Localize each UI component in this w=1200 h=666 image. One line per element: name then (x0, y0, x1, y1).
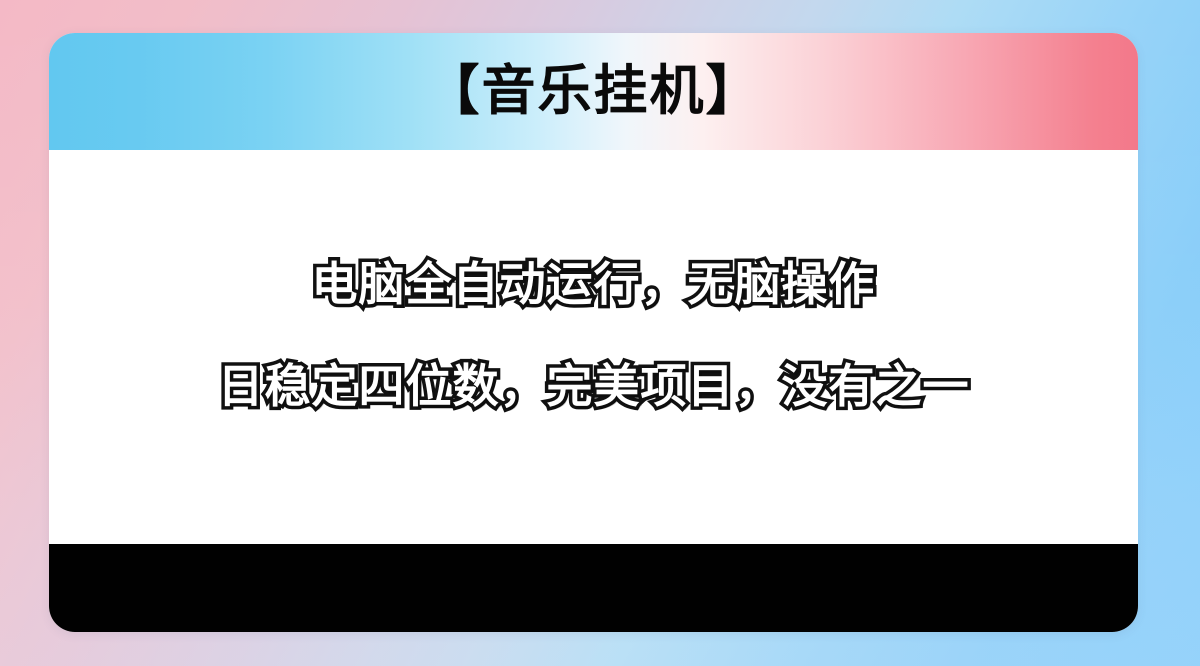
poster-canvas: 【音乐挂机】 电脑全自动运行，无脑操作 日稳定四位数，完美项目，没有之一 (0, 0, 1200, 666)
headline-line-2: 日稳定四位数，完美项目，没有之一 (218, 362, 970, 410)
card-footer-bar (49, 544, 1138, 632)
page-title: 【音乐挂机】 (426, 64, 762, 118)
headline-line-1: 电脑全自动运行，无脑操作 (312, 260, 876, 308)
poster-card: 【音乐挂机】 电脑全自动运行，无脑操作 日稳定四位数，完美项目，没有之一 (49, 33, 1138, 632)
card-body: 电脑全自动运行，无脑操作 日稳定四位数，完美项目，没有之一 (49, 150, 1138, 544)
card-header-band: 【音乐挂机】 (49, 33, 1138, 150)
